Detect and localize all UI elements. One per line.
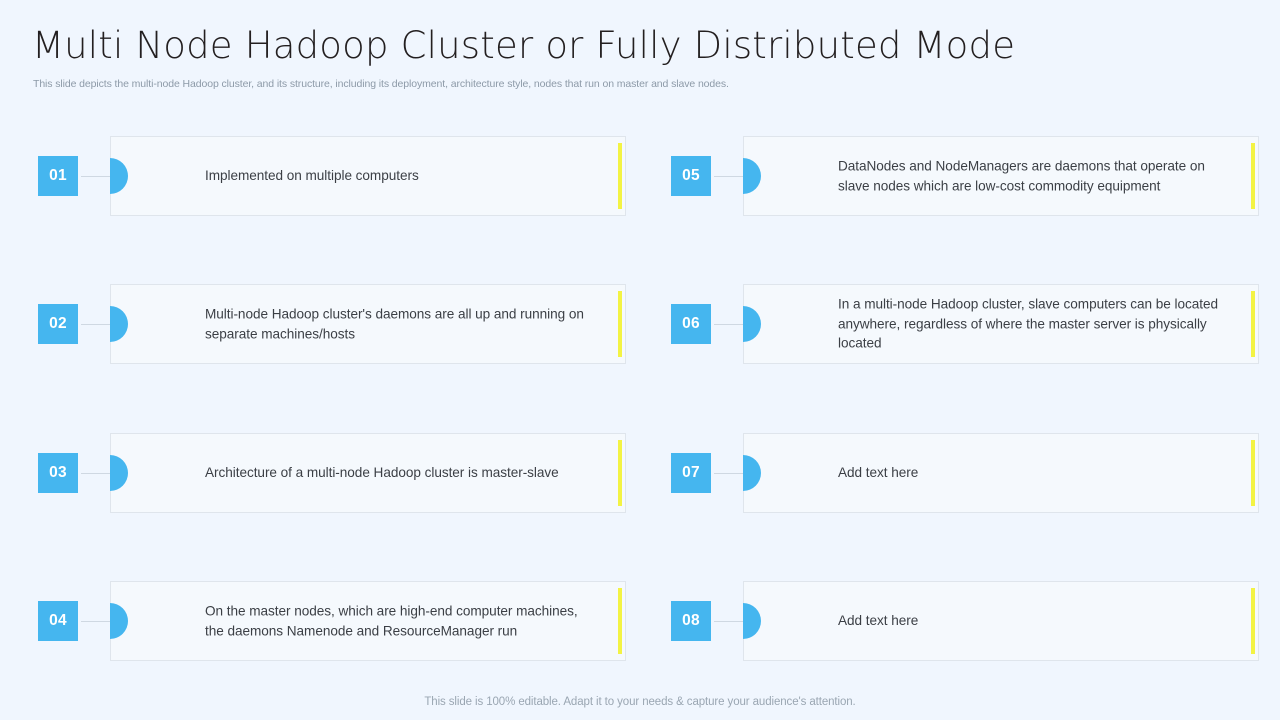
connector-line [711,324,743,325]
semicircle-bullet-icon [110,158,128,194]
item-text: In a multi-node Hadoop cluster, slave co… [838,294,1232,353]
item-text: Add text here [838,611,1232,631]
page-title: Multi Node Hadoop Cluster or Fully Distr… [32,24,1248,68]
semicircle-bullet-icon [743,306,761,342]
item-number-badge: 04 [38,601,78,641]
items-column-right: 05 DataNodes and NodeManagers are daemon… [671,128,1259,668]
yellow-accent-bar [618,291,622,357]
list-item[interactable]: 04 On the master nodes, which are high-e… [38,581,626,661]
slide-footer-note: This slide is 100% editable. Adapt it to… [0,696,1280,708]
item-number-badge: 03 [38,453,78,493]
item-card[interactable]: Implemented on multiple computers [110,136,626,216]
connector-line [78,473,110,474]
item-card[interactable]: On the master nodes, which are high-end … [110,581,626,661]
yellow-accent-bar [1251,291,1255,357]
connector-line [711,621,743,622]
item-number-badge: 01 [38,156,78,196]
semicircle-bullet-icon [110,455,128,491]
semicircle-bullet-icon [110,603,128,639]
items-grid: 01 Implemented on multiple computers 02 … [0,128,1280,668]
item-card[interactable]: In a multi-node Hadoop cluster, slave co… [743,284,1259,364]
list-item[interactable]: 07 Add text here [671,433,1259,513]
item-number-badge: 05 [671,156,711,196]
semicircle-bullet-icon [110,306,128,342]
item-card[interactable]: DataNodes and NodeManagers are daemons t… [743,136,1259,216]
item-card[interactable]: Multi-node Hadoop cluster's daemons are … [110,284,626,364]
list-item[interactable]: 05 DataNodes and NodeManagers are daemon… [671,136,1259,216]
item-card[interactable]: Add text here [743,581,1259,661]
item-text: Add text here [838,463,1232,483]
yellow-accent-bar [1251,143,1255,209]
connector-line [78,176,110,177]
yellow-accent-bar [618,440,622,506]
connector-line [78,621,110,622]
item-text: Multi-node Hadoop cluster's daemons are … [205,304,599,343]
connector-line [78,324,110,325]
list-item[interactable]: 08 Add text here [671,581,1259,661]
page-subtitle: This slide depicts the multi-node Hadoop… [33,78,1248,92]
item-number-badge: 08 [671,601,711,641]
yellow-accent-bar [618,588,622,654]
yellow-accent-bar [1251,588,1255,654]
list-item[interactable]: 02 Multi-node Hadoop cluster's daemons a… [38,284,626,364]
item-text: Implemented on multiple computers [205,166,599,186]
semicircle-bullet-icon [743,603,761,639]
yellow-accent-bar [1251,440,1255,506]
item-text: DataNodes and NodeManagers are daemons t… [838,156,1232,195]
connector-line [711,176,743,177]
item-number-badge: 06 [671,304,711,344]
item-number-badge: 02 [38,304,78,344]
list-item[interactable]: 01 Implemented on multiple computers [38,136,626,216]
item-card[interactable]: Add text here [743,433,1259,513]
slide-header: Multi Node Hadoop Cluster or Fully Distr… [32,24,1248,92]
list-item[interactable]: 06 In a multi-node Hadoop cluster, slave… [671,284,1259,364]
list-item[interactable]: 03 Architecture of a multi-node Hadoop c… [38,433,626,513]
connector-line [711,473,743,474]
item-text: On the master nodes, which are high-end … [205,601,599,640]
items-column-left: 01 Implemented on multiple computers 02 … [38,128,626,668]
semicircle-bullet-icon [743,455,761,491]
item-card[interactable]: Architecture of a multi-node Hadoop clus… [110,433,626,513]
item-number-badge: 07 [671,453,711,493]
semicircle-bullet-icon [743,158,761,194]
yellow-accent-bar [618,143,622,209]
item-text: Architecture of a multi-node Hadoop clus… [205,463,599,483]
